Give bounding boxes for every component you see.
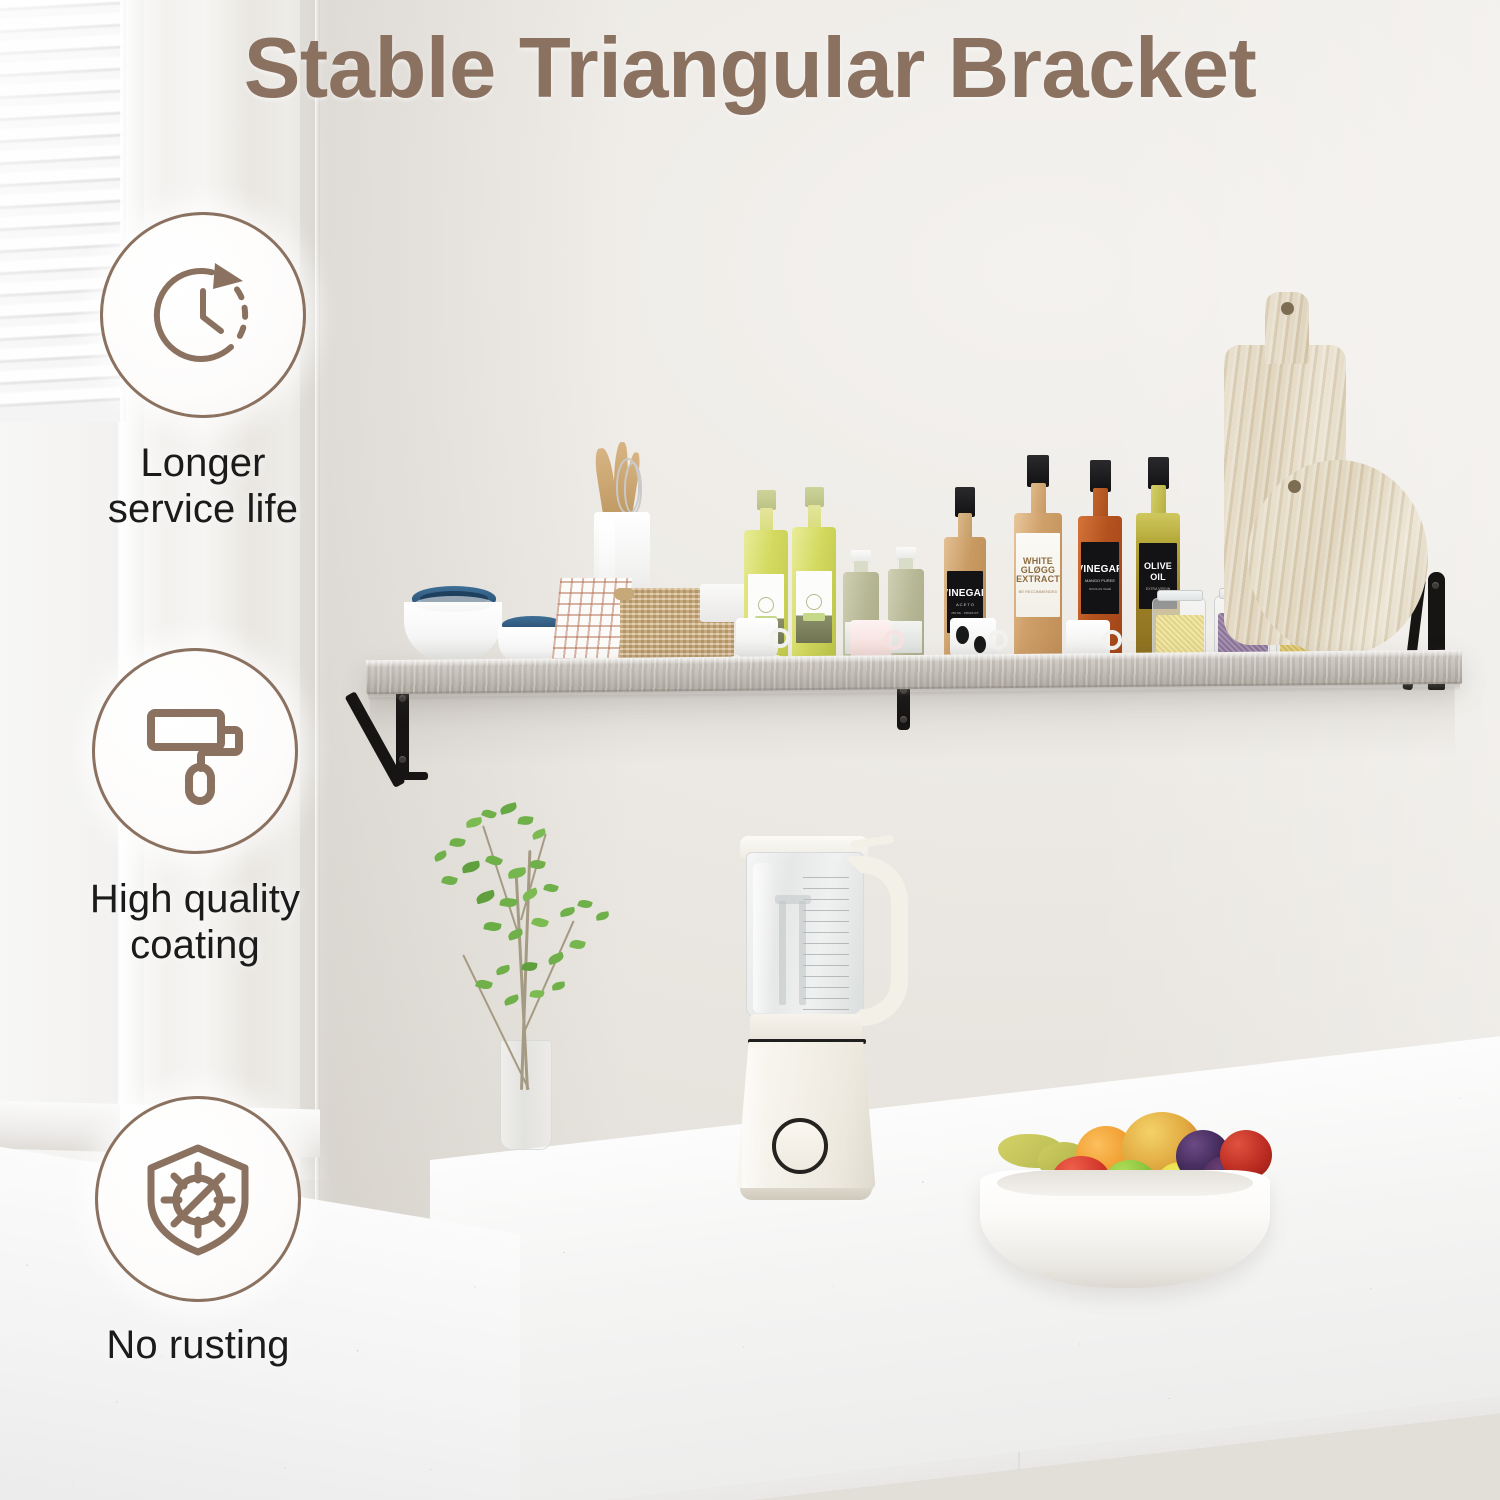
feature-high-quality-coating: High quality coating <box>64 648 326 988</box>
bottle-label-glogg: WHITE GLØGG EXTRACT BE RECOMMENDED <box>1016 533 1060 617</box>
feature-label: No rusting <box>72 1322 324 1368</box>
mug-white-1 <box>736 618 778 658</box>
clock-rotate-icon <box>143 255 263 375</box>
bottle-label <box>796 571 832 643</box>
label-text: OLIVE OIL <box>1139 561 1177 582</box>
blender-handle <box>844 856 908 1026</box>
blender-collar <box>750 1014 862 1042</box>
product-feature-image: VINEGAR A C E T O 250 ML · PRODUCT WHITE… <box>0 0 1500 1500</box>
paddle-board-handle <box>1265 292 1309 364</box>
olive-oil-bottle-2 <box>792 487 836 665</box>
feature-no-rusting: No rusting <box>72 1096 324 1416</box>
feature-badge <box>95 1096 301 1302</box>
round-cutting-board <box>1248 460 1428 656</box>
feature-longer-service-life: Longer service life <box>78 212 328 552</box>
countertop-blender <box>724 836 938 1236</box>
blender-control-knob[interactable] <box>772 1118 828 1174</box>
page-title: Stable Triangular Bracket <box>0 20 1500 118</box>
label-text: WHITE GLØGG EXTRACT <box>1016 557 1060 584</box>
shield-no-rust-icon <box>137 1138 259 1260</box>
feature-label: Longer service life <box>78 440 328 533</box>
feature-badge <box>100 212 306 418</box>
stacked-bowls <box>404 586 502 664</box>
fruit-bowl <box>980 1100 1270 1290</box>
branch-plant-in-vase <box>420 790 650 1160</box>
mug-pink <box>850 620 892 660</box>
bowl-vessel <box>980 1170 1270 1288</box>
feature-badge <box>92 648 298 854</box>
paint-roller-icon <box>137 693 253 809</box>
feature-label: High quality coating <box>64 876 326 969</box>
bottle-label-vinegar2: VINEGAR MANGO PUREE NICOLAS VAHÉ <box>1081 542 1119 614</box>
label-text: VINEGAR <box>1081 565 1119 575</box>
wall-corner-edge <box>315 0 320 1250</box>
label-text: VINEGAR <box>947 589 983 599</box>
white-glogg-extract-bottle: WHITE GLØGG EXTRACT BE RECOMMENDED <box>1014 455 1062 667</box>
